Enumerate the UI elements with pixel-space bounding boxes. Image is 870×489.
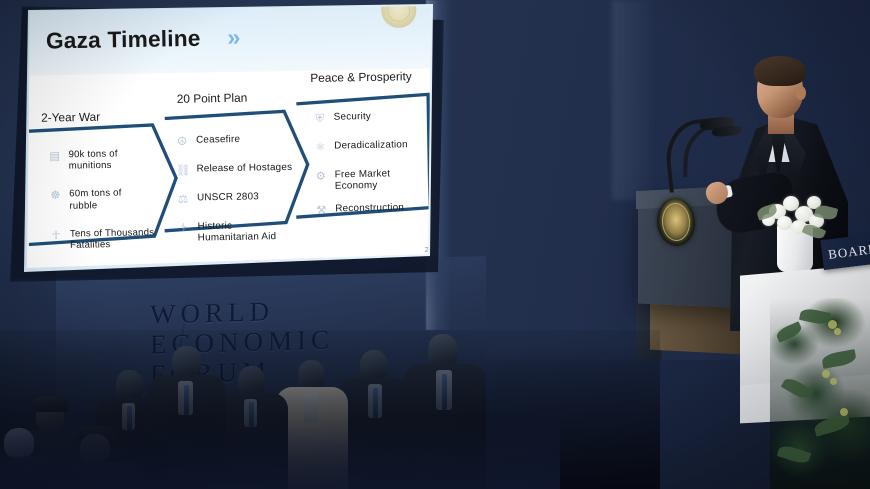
list-item-label: Release of Hostages	[196, 162, 292, 175]
column-items-war: ▤ 90k tons of munitions ☸ 60m tons of ru…	[48, 147, 163, 251]
fatalities-icon: ☥	[49, 229, 63, 244]
list-item: ⚖ UNSCR 2803	[176, 190, 306, 208]
presentation-slide: Gaza Timeline » 2-Year War 20 Point Plan…	[27, 6, 433, 270]
humanitarian-aid-icon: ⚕	[177, 222, 191, 237]
column-items-plan: ☮ Ceasefire ⛓ Release of Hostages ⚖ UNSC…	[175, 133, 307, 245]
list-item: ▤ 90k tons of munitions	[48, 147, 162, 172]
list-item-label: 60m tons of rubble	[69, 188, 122, 212]
free-market-icon: ⚙	[314, 170, 328, 185]
list-item-label: Ceasefire	[196, 134, 240, 146]
column-items-peace: ⛨ Security ⚛ Deradicalization ⚙ Free Mar…	[313, 110, 433, 220]
speaker-ear	[796, 86, 806, 100]
list-item: ⚛ Deradicalization	[313, 139, 433, 157]
speaker-hair	[754, 56, 806, 86]
list-item-label: Historic Humanitarian Aid	[197, 220, 276, 244]
unscr-icon: ⚖	[176, 193, 190, 208]
ceasefire-icon: ☮	[175, 136, 189, 151]
slide-title: Gaza Timeline	[46, 25, 201, 54]
munitions-icon: ▤	[48, 150, 62, 165]
list-item: ⛓ Release of Hostages	[176, 161, 306, 179]
list-item: ☮ Ceasefire	[175, 133, 305, 151]
flower-bouquet	[757, 190, 841, 238]
list-item-label: Deradicalization	[334, 139, 408, 152]
list-item-label: 90k tons of munitions	[68, 148, 118, 172]
stage-foliage	[770, 298, 870, 489]
list-item-label: Tens of Thousands Fatalities	[70, 227, 155, 252]
list-item: ⚕ Historic Humanitarian Aid	[177, 219, 307, 244]
list-item-label: UNSCR 2803	[197, 191, 259, 204]
double-chevron-icon: »	[227, 24, 258, 49]
hostages-icon: ⛓	[176, 164, 190, 179]
list-item-label: Reconstruction	[335, 202, 404, 215]
wall-light-column-far	[612, 0, 652, 200]
security-icon: ⛨	[313, 113, 327, 128]
list-item-label: Security	[334, 111, 372, 123]
list-item: ☸ 60m tons of rubble	[49, 187, 163, 212]
stage-floor-glow	[0, 419, 560, 489]
list-item: ☥ Tens of Thousands Fatalities	[49, 227, 163, 252]
list-item-label: Free Market Economy	[335, 168, 391, 192]
list-item: ⛨ Security	[313, 110, 433, 128]
photo-scene: WORLD ECONOMIC FORUM Gaza Timeline » 2-Y…	[0, 0, 870, 489]
deradicalization-icon: ⚛	[314, 141, 328, 156]
reconstruction-icon: ⚒	[315, 205, 329, 220]
rubble-icon: ☸	[49, 190, 63, 205]
list-item: ⚙ Free Market Economy	[314, 167, 433, 192]
list-item: ⚒ Reconstruction	[315, 202, 433, 220]
